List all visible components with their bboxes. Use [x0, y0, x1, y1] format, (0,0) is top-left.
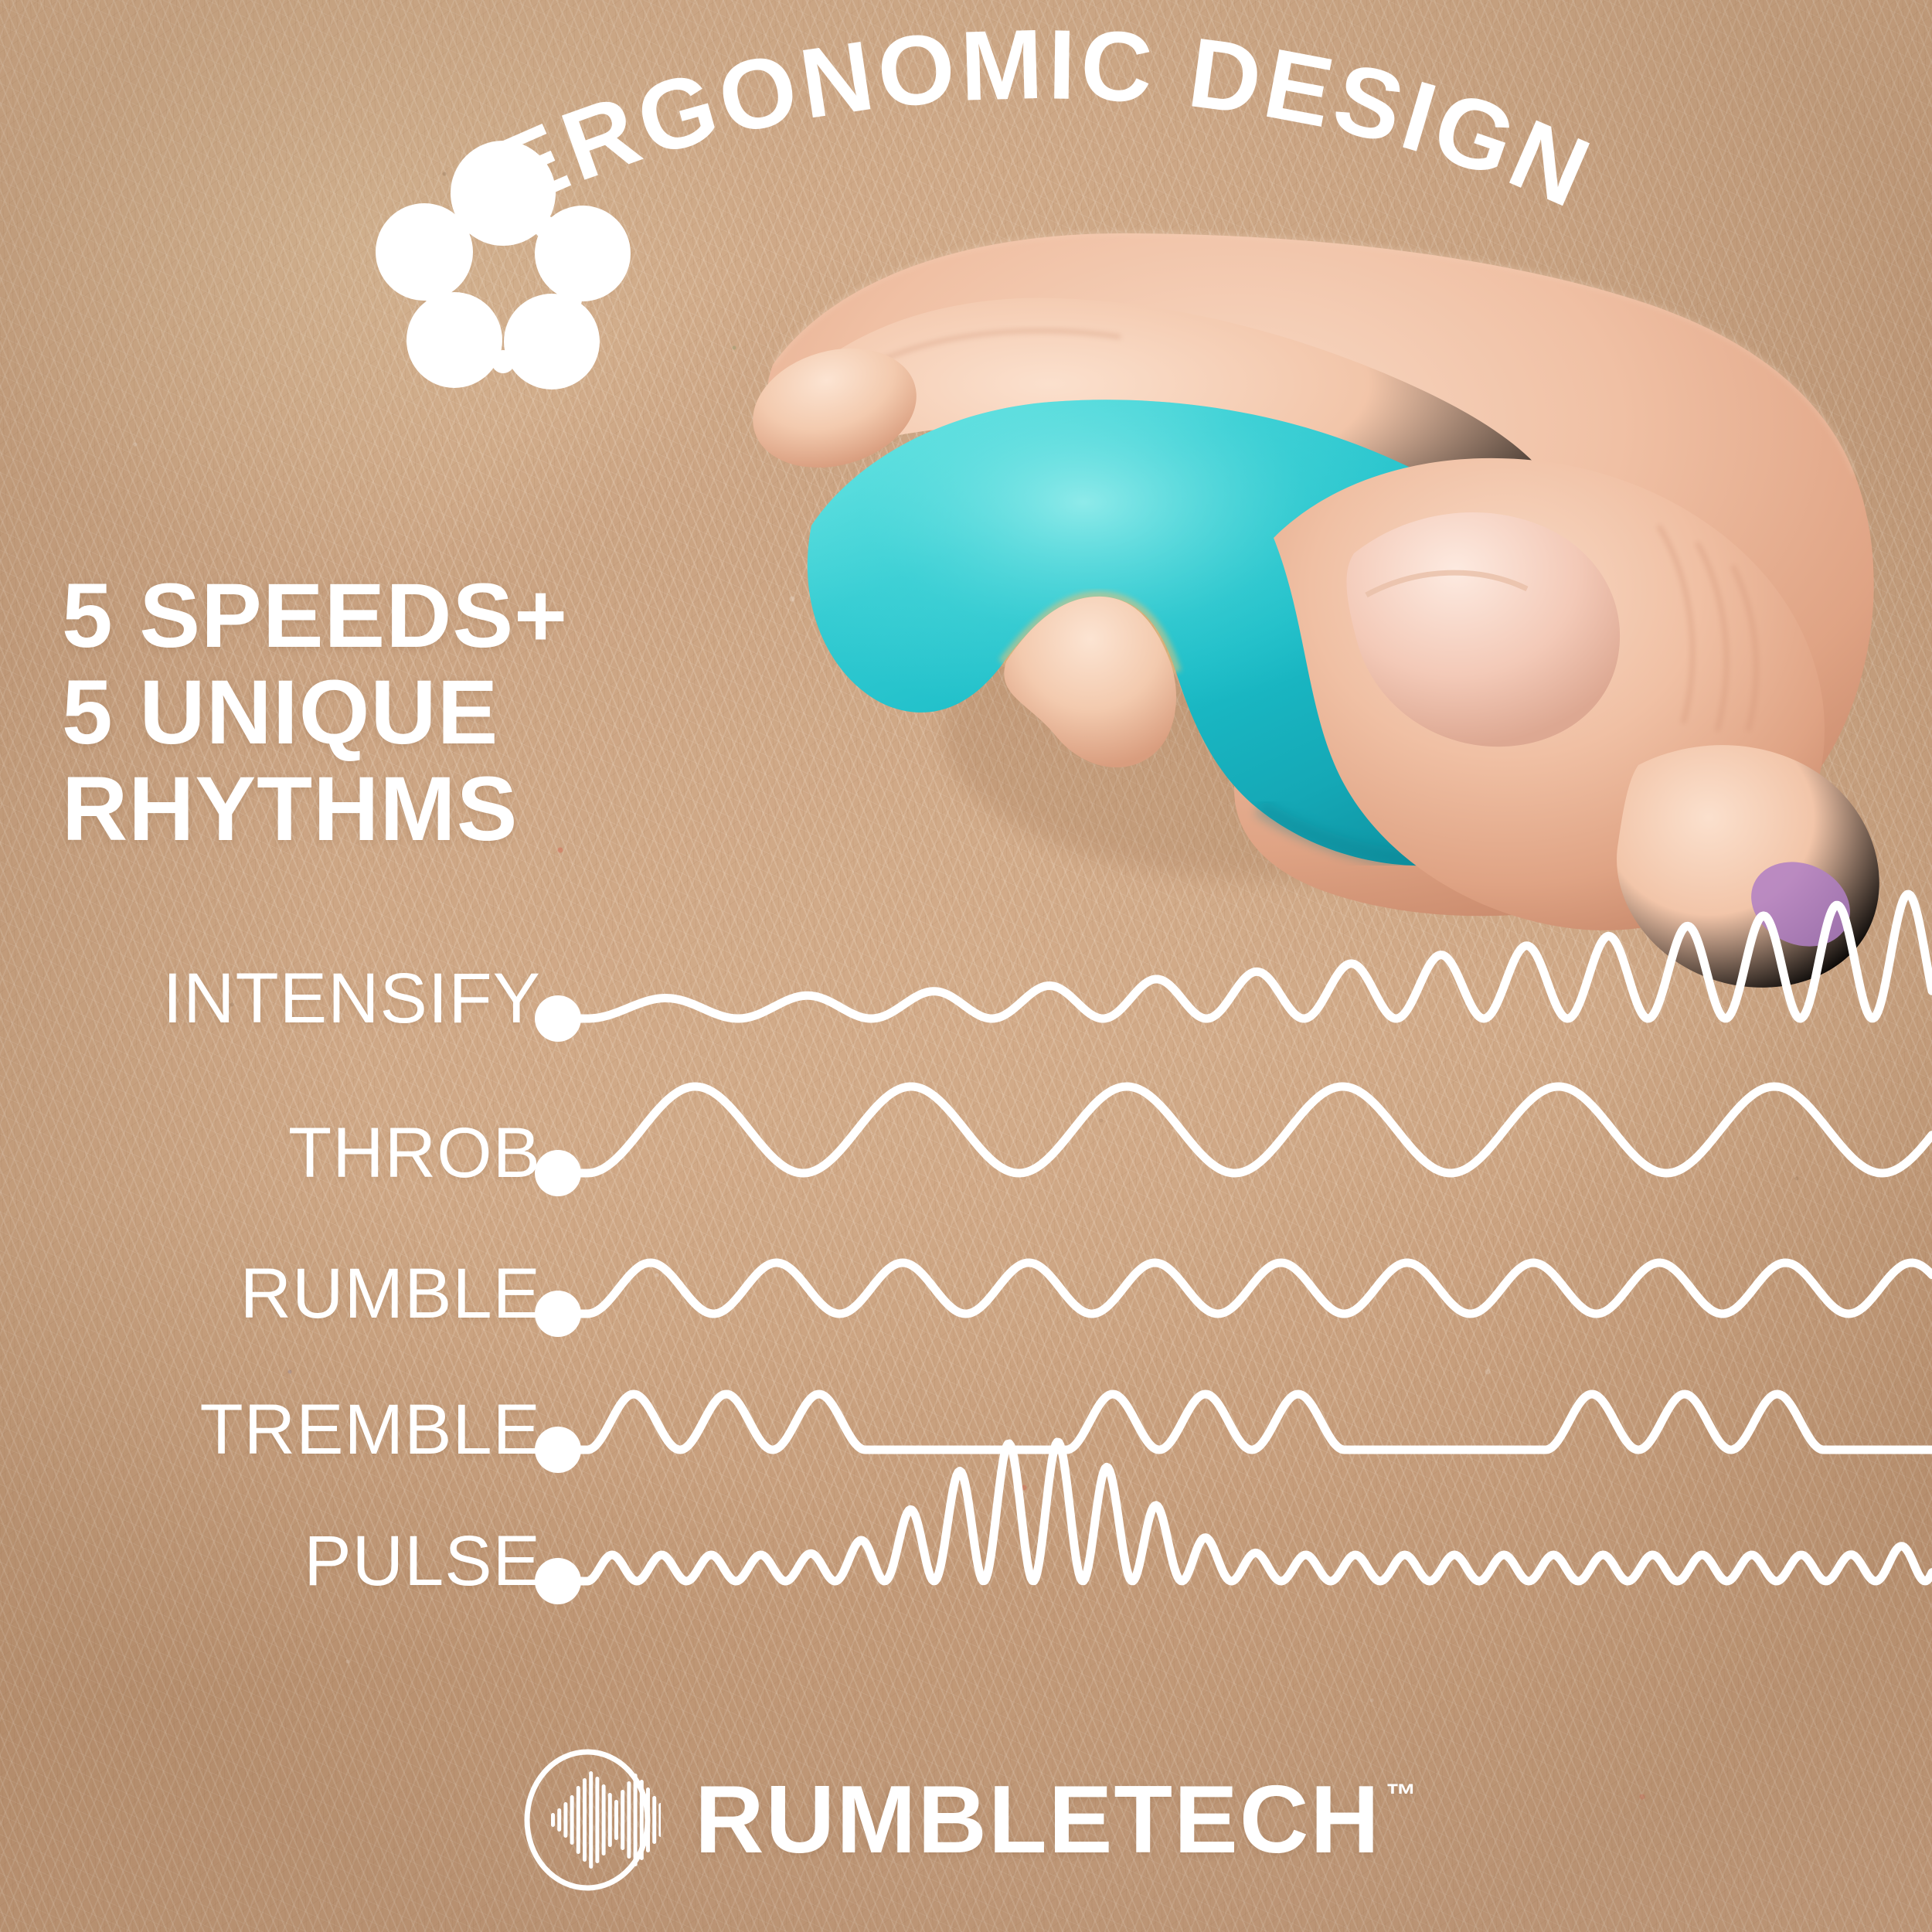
- brand-name: RUMBLETECH: [695, 1772, 1381, 1868]
- brand-waveform-bar: [583, 1778, 587, 1862]
- waveform-intensify: [558, 894, 1932, 1019]
- brand-waveform-bar: [634, 1774, 638, 1866]
- product-marketing-image: ERGONOMIC DESIGN: [0, 0, 1932, 1932]
- brand-waveform-bar: [570, 1795, 574, 1845]
- brand-waveform-bar: [551, 1813, 555, 1827]
- brand-waveform-bar: [627, 1781, 631, 1859]
- waveform-dot-intensify: [535, 995, 581, 1042]
- brand-waveform-bar: [652, 1796, 656, 1844]
- brand-waveform-bar: [557, 1808, 561, 1832]
- brand-waveform-bar: [621, 1790, 624, 1850]
- brand-wordmark: RUMBLETECH ™: [695, 1772, 1418, 1868]
- brand-waveform-bar: [602, 1784, 606, 1855]
- brand-waveform-bar: [658, 1803, 661, 1837]
- waveform-pulse: [558, 1442, 1932, 1581]
- brand-trademark: ™: [1386, 1780, 1418, 1811]
- brand-lockup: RUMBLETECH ™: [0, 1723, 1932, 1917]
- circle-waveform-icon: [514, 1747, 661, 1893]
- brand-waveform-bar: [608, 1793, 612, 1847]
- waveform-rumble: [558, 1263, 1932, 1314]
- brand-waveform-bar: [640, 1780, 644, 1860]
- brand-waveform-bar: [614, 1800, 618, 1840]
- brand-waveform-bar: [646, 1787, 650, 1852]
- waveform-dot-pulse: [535, 1558, 581, 1604]
- brand-waveform-bar: [577, 1786, 580, 1854]
- brand-waveform-bars: [551, 1771, 661, 1869]
- waveform-dot-tremble: [535, 1427, 581, 1473]
- waveform-throb: [558, 1087, 1932, 1173]
- waveform-dot-throb: [535, 1150, 581, 1196]
- brand-waveform-bar: [589, 1771, 593, 1869]
- brand-waveform-bar: [563, 1802, 567, 1838]
- brand-waveform-bar: [595, 1777, 599, 1863]
- waveform-dot-rumble: [535, 1291, 581, 1337]
- waveform-tremble: [558, 1394, 1932, 1450]
- rhythm-waveform-layer: [0, 0, 1932, 1932]
